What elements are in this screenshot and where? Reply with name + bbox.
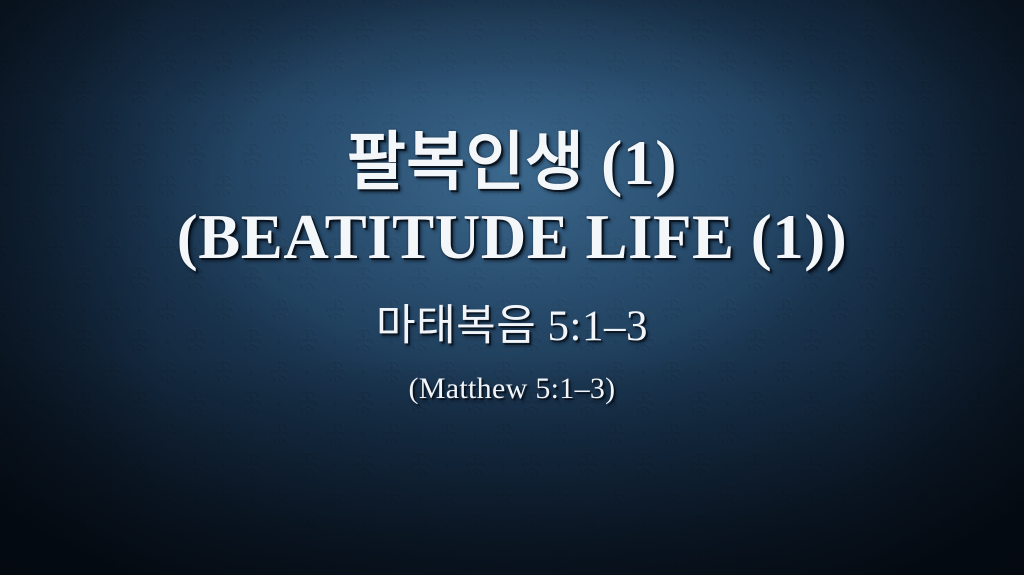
slide-text-block: 팔복인생 (1) (BEATITUDE LIFE (1)) 마태복음 5:1–3…: [0, 0, 1024, 575]
slide-title-korean: 팔복인생 (1): [347, 131, 677, 195]
slide-title-english: (BEATITUDE LIFE (1)): [177, 206, 847, 269]
presentation-slide: 팔복인생 (1) (BEATITUDE LIFE (1)) 마태복음 5:1–3…: [0, 0, 1024, 575]
scripture-reference-english: (Matthew 5:1–3): [409, 374, 616, 404]
scripture-reference-korean: 마태복음 5:1–3: [376, 305, 648, 348]
